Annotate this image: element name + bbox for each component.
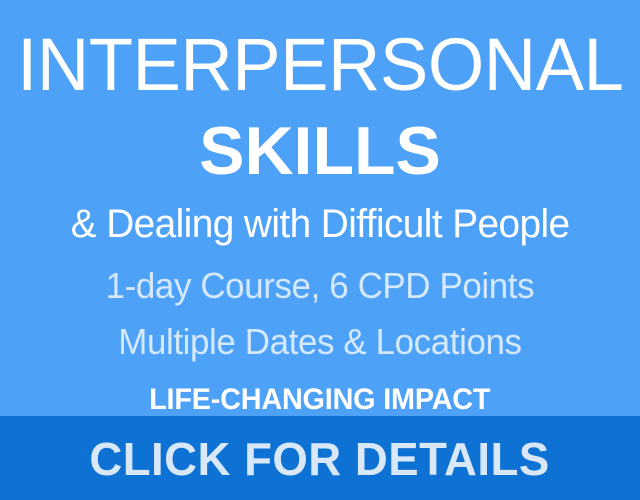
ad-detail-course-info: 1-day Course, 6 CPD Points: [106, 268, 535, 304]
cta-button[interactable]: CLICK FOR DETAILS: [0, 416, 640, 500]
ad-detail-dates-locations: Multiple Dates & Locations: [118, 324, 521, 360]
advertisement-banner[interactable]: INTERPERSONAL SKILLS & Dealing with Diff…: [0, 0, 640, 500]
ad-impact-tagline: LIFE-CHANGING IMPACT: [149, 385, 490, 415]
cta-button-label: CLICK FOR DETAILS: [90, 436, 550, 482]
headline-secondary: SKILLS: [199, 117, 441, 185]
headline-primary: INTERPERSONAL: [17, 28, 623, 102]
ad-message-block: INTERPERSONAL SKILLS & Dealing with Diff…: [0, 0, 640, 416]
ad-subheadline: & Dealing with Difficult People: [71, 204, 570, 244]
